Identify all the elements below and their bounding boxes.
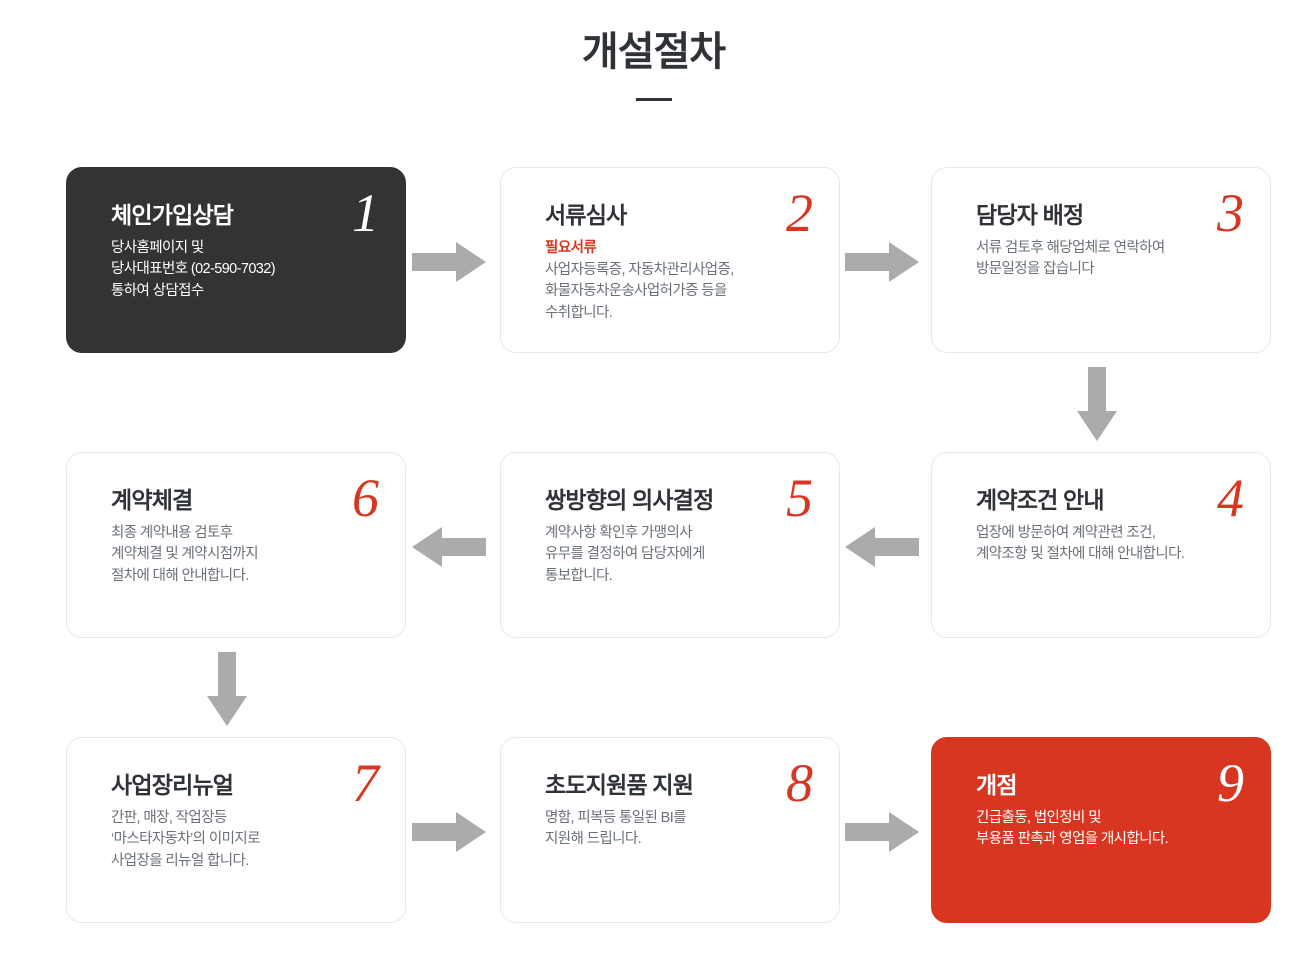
step-title-7: 사업장리뉴얼	[111, 772, 379, 800]
step-subhead-2: 필요서류	[545, 238, 813, 259]
step-title-4: 계약조건 안내	[976, 487, 1244, 515]
process-flow-diagram: 개설절차 1 체인가입상담 당사홈페이지 및 당사대표번호 (02-590-70…	[0, 0, 1307, 956]
step-card-1[interactable]: 1 체인가입상담 당사홈페이지 및 당사대표번호 (02-590-7032) 통…	[66, 167, 406, 353]
step-card-6[interactable]: 6 계약체결 최종 계약내용 검토후 계약체결 및 계약시점까지 절차에 대해 …	[66, 452, 406, 638]
arrow-left-icon	[845, 525, 919, 569]
step-number-8: 8	[786, 756, 813, 810]
step-title-3: 담당자 배정	[976, 202, 1244, 230]
arrow-down-icon	[1075, 367, 1119, 441]
step-card-3[interactable]: 3 담당자 배정 서류 검토후 해당업체로 연락하여 방문일정을 잡습니다	[931, 167, 1271, 353]
arrow-right-icon	[845, 810, 919, 854]
arrow-left-icon	[412, 525, 486, 569]
step-number-5: 5	[786, 471, 813, 525]
step-card-4[interactable]: 4 계약조건 안내 업장에 방문하여 계약관련 조건, 계약조항 및 절차에 대…	[931, 452, 1271, 638]
step-title-1: 체인가입상담	[111, 202, 379, 230]
step-title-8: 초도지원품 지원	[545, 772, 813, 800]
step-title-5: 쌍방향의 의사결정	[545, 487, 813, 515]
step-card-5[interactable]: 5 쌍방향의 의사결정 계약사항 확인후 가맹의사 유무를 결정하여 담당자에게…	[500, 452, 840, 638]
step-number-9: 9	[1217, 756, 1244, 810]
header: 개설절차	[0, 30, 1307, 101]
arrow-right-icon	[845, 240, 919, 284]
step-body-7: 간판, 매장, 작업장등 ‘마스타자동차’의 이미지로 사업장을 리뉴얼 합니다…	[111, 808, 379, 872]
step-body-3: 서류 검토후 해당업체로 연락하여 방문일정을 잡습니다	[976, 238, 1244, 281]
step-body-2: 사업자등록증, 자동차관리사업증, 화물자동차운송사업허가증 등을 수취합니다.	[545, 260, 813, 324]
step-number-7: 7	[352, 756, 379, 810]
step-number-2: 2	[786, 186, 813, 240]
step-body-4: 업장에 방문하여 계약관련 조건, 계약조항 및 절차에 대해 안내합니다.	[976, 523, 1244, 566]
step-number-4: 4	[1217, 471, 1244, 525]
step-body-1: 당사홈페이지 및 당사대표번호 (02-590-7032) 통하여 상담접수	[111, 238, 379, 302]
arrow-right-icon	[412, 810, 486, 854]
page-title: 개설절차	[0, 30, 1307, 74]
step-title-9: 개점	[976, 772, 1244, 800]
step-number-6: 6	[352, 471, 379, 525]
step-body-8: 명함, 피복등 통일된 BI를 지원해 드립니다.	[545, 808, 813, 851]
arrow-right-icon	[412, 240, 486, 284]
step-number-1: 1	[352, 186, 379, 240]
step-title-6: 계약체결	[111, 487, 379, 515]
step-body-6: 최종 계약내용 검토후 계약체결 및 계약시점까지 절차에 대해 안내합니다.	[111, 523, 379, 587]
step-title-2: 서류심사	[545, 202, 813, 230]
step-card-7[interactable]: 7 사업장리뉴얼 간판, 매장, 작업장등 ‘마스타자동차’의 이미지로 사업장…	[66, 737, 406, 923]
step-number-3: 3	[1217, 186, 1244, 240]
title-divider	[636, 98, 672, 101]
arrow-down-icon	[205, 652, 249, 726]
step-body-5: 계약사항 확인후 가맹의사 유무를 결정하여 담당자에게 통보합니다.	[545, 523, 813, 587]
step-card-9[interactable]: 9 개점 긴급출동, 법인정비 및 부용품 판촉과 영업을 개시합니다.	[931, 737, 1271, 923]
step-card-2[interactable]: 2 서류심사 필요서류 사업자등록증, 자동차관리사업증, 화물자동차운송사업허…	[500, 167, 840, 353]
step-body-9: 긴급출동, 법인정비 및 부용품 판촉과 영업을 개시합니다.	[976, 808, 1244, 851]
step-card-8[interactable]: 8 초도지원품 지원 명함, 피복등 통일된 BI를 지원해 드립니다.	[500, 737, 840, 923]
